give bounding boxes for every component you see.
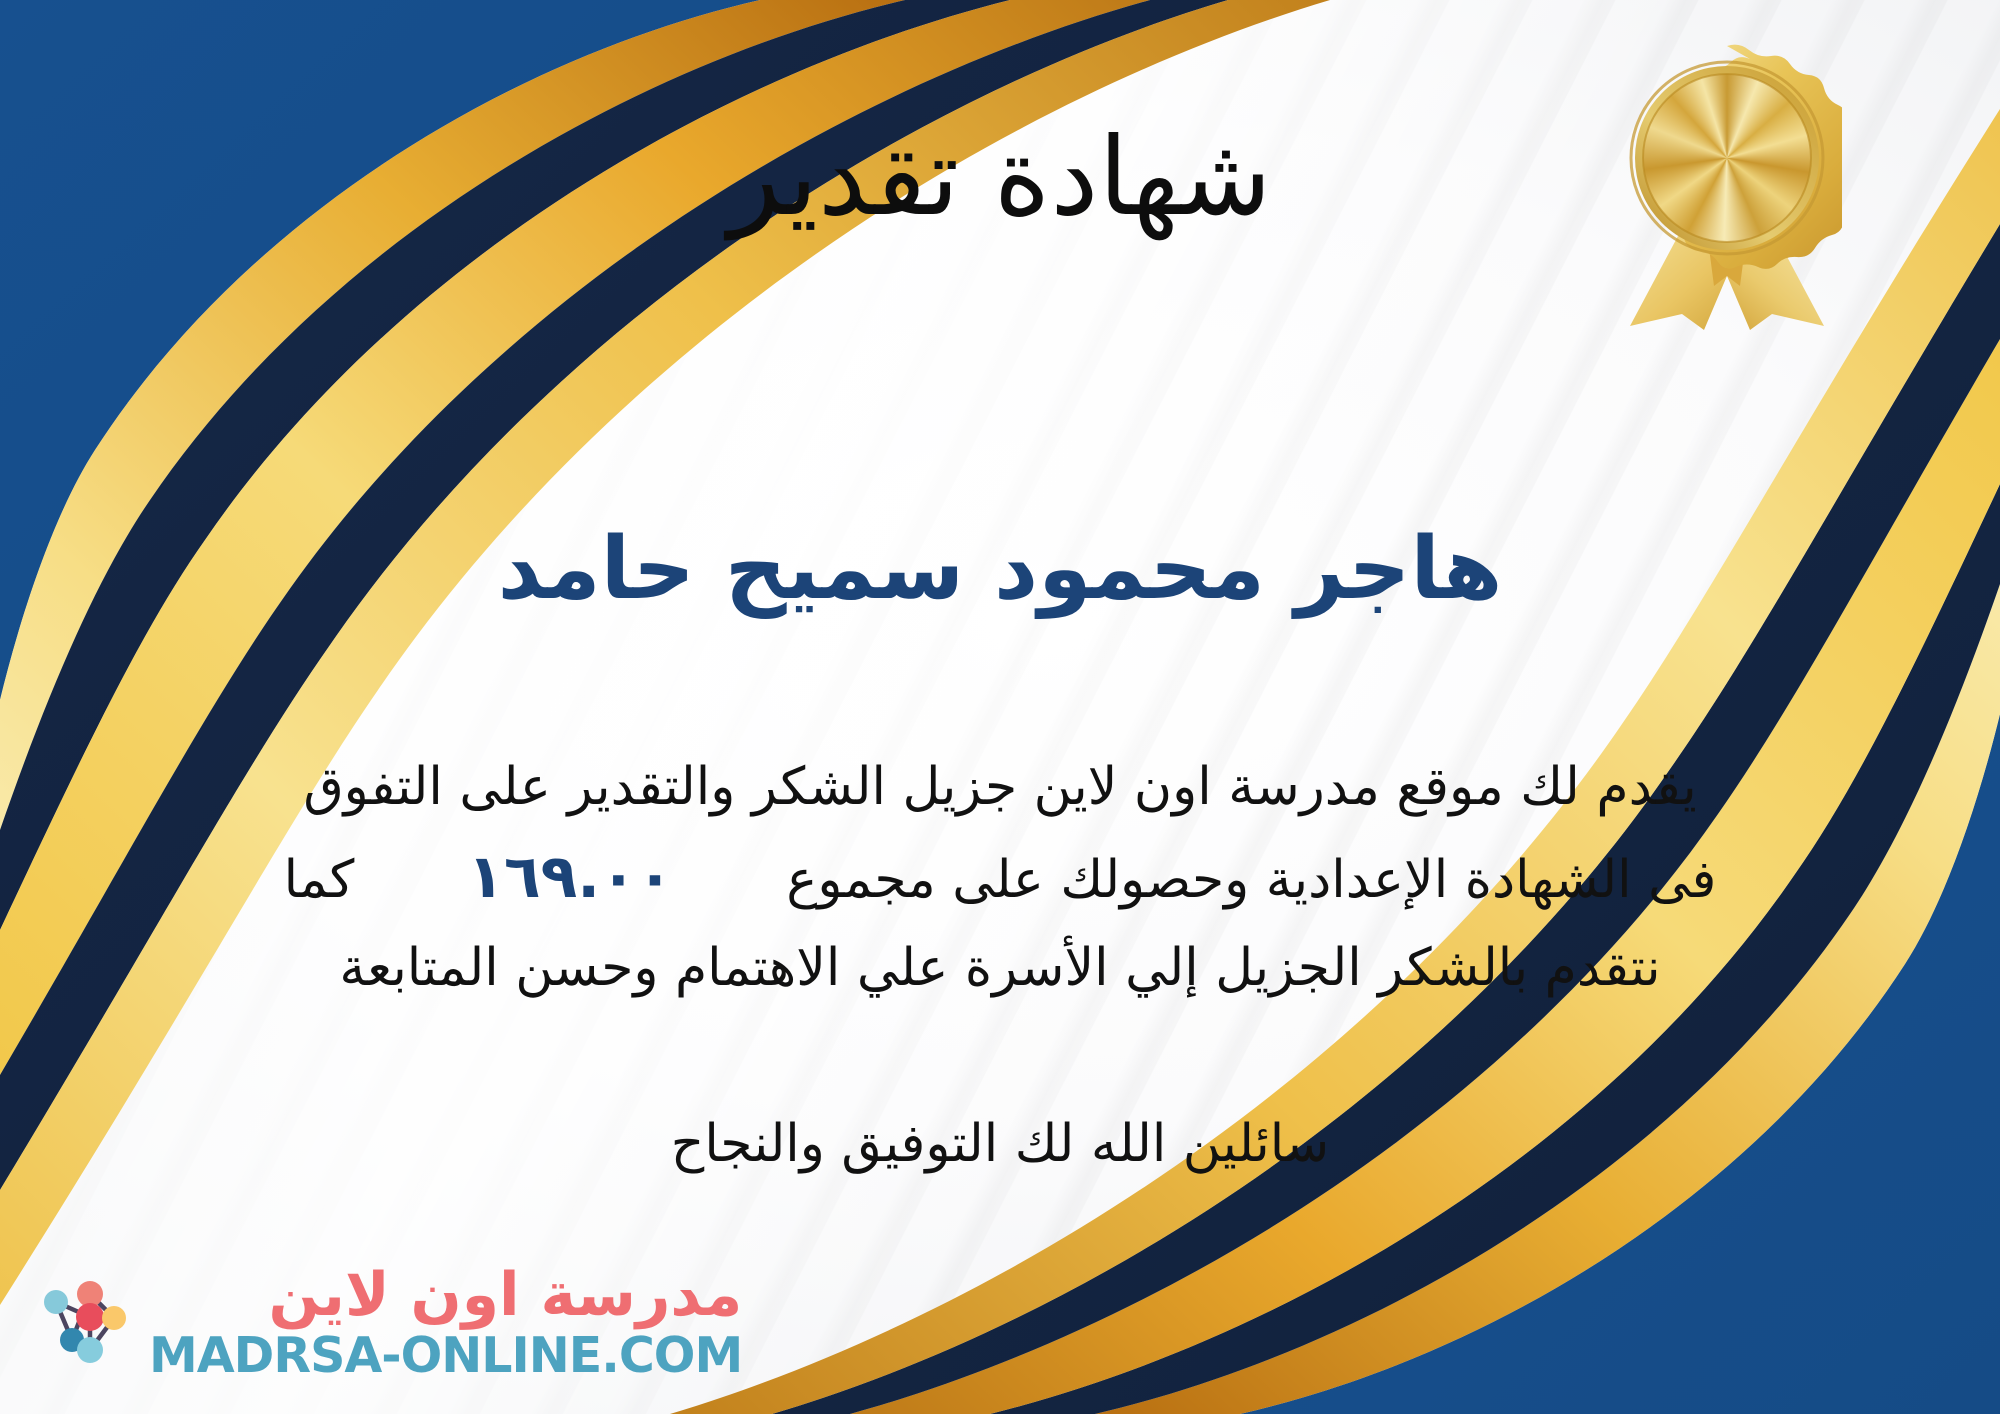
body-line-3: نتقدم بالشكر الجزيل إلي الأسرة علي الاهت… (60, 926, 1940, 1010)
student-name: هاجر محمود سميح حامد (0, 520, 2000, 619)
body-line-1: يقدم لك موقع مدرسة اون لاين جزيل الشكر و… (60, 745, 1940, 829)
body-line-2-prefix: فى الشهادة الإعدادية وحصولك على مجموع (786, 850, 1716, 910)
certificate-card: شهادة تقدير هاجر محمود سميح حامد يقدم لك… (0, 0, 2000, 1414)
brand-website: MADRSA-ONLINE.COM (149, 1331, 742, 1380)
certificate-body: يقدم لك موقع مدرسة اون لاين جزيل الشكر و… (60, 745, 1940, 1011)
brand-arabic-name: مدرسة اون لاين (268, 1265, 742, 1325)
body-line-2: فى الشهادة الإعدادية وحصولك على مجموع ١٦… (60, 829, 1940, 926)
page-title: شهادة تقدير (0, 118, 2000, 239)
network-nodes-icon (34, 1270, 139, 1375)
body-line-2-suffix: كما (284, 850, 355, 910)
closing-wish: سائلين الله لك التوفيق والنجاح (0, 1105, 2000, 1183)
total-score-value: ١٦٩.٠٠ (433, 842, 707, 912)
brand-text: مدرسة اون لاين MADRSA-ONLINE.COM (149, 1265, 742, 1380)
brand-logo[interactable]: مدرسة اون لاين MADRSA-ONLINE.COM (34, 1265, 742, 1380)
